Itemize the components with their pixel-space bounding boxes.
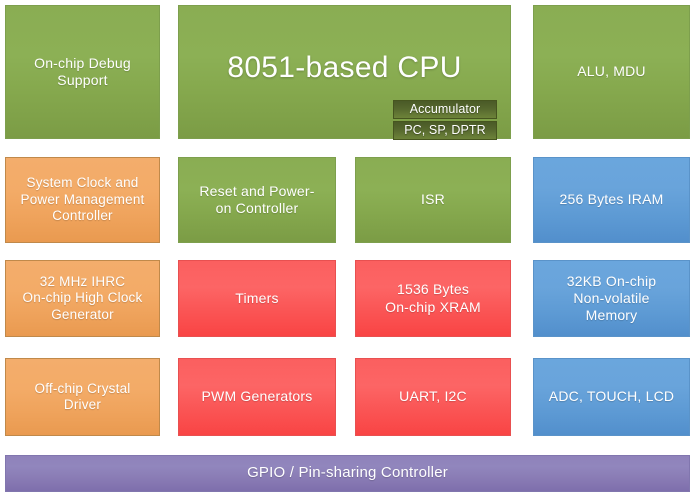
block-gpio-pin-sharing-controller[interactable]: GPIO / Pin-sharing Controller — [5, 455, 690, 492]
block-1536-bytes-on-chip-xram[interactable]: 1536 Bytes On-chip XRAM — [355, 260, 511, 337]
block-32kb-on-chip-non-volatile-memory[interactable]: 32KB On-chip Non-volatile Memory — [533, 260, 690, 337]
cpu-title: 8051-based CPU — [179, 50, 510, 87]
block-pwm-generators[interactable]: PWM Generators — [178, 358, 336, 436]
block-label: PWM Generators — [185, 388, 329, 405]
block-label: Off-chip Crystal Driver — [12, 381, 153, 414]
block-8051-based-cpu[interactable]: 8051-based CPU Accumulator PC, SP, DPTR — [178, 5, 511, 139]
block-label: ALU, MDU — [540, 63, 683, 80]
block-off-chip-crystal-driver[interactable]: Off-chip Crystal Driver — [5, 358, 160, 436]
block-label: UART, I2C — [362, 388, 504, 405]
block-timers[interactable]: Timers — [178, 260, 336, 337]
block-label: 32KB On-chip Non-volatile Memory — [540, 273, 683, 324]
block-256-bytes-iram[interactable]: 256 Bytes IRAM — [533, 157, 690, 243]
block-label: GPIO / Pin-sharing Controller — [12, 464, 683, 482]
block-label: 32 MHz IHRC On-chip High Clock Generator — [12, 274, 153, 323]
block-label: On-chip Debug Support — [12, 55, 153, 89]
block-label: ISR — [362, 191, 504, 208]
block-alu-mdu[interactable]: ALU, MDU — [533, 5, 690, 139]
block-label: Reset and Power- on Controller — [185, 183, 329, 217]
block-label: 256 Bytes IRAM — [540, 191, 683, 208]
block-accumulator[interactable]: Accumulator — [393, 100, 497, 119]
block-diagram-canvas: On-chip Debug Support 8051-based CPU Acc… — [0, 0, 693, 497]
block-program-counter-stack-pointer-dptr[interactable]: PC, SP, DPTR — [393, 121, 497, 140]
block-on-chip-debug-support[interactable]: On-chip Debug Support — [5, 5, 160, 139]
cpu-register-group: Accumulator PC, SP, DPTR — [393, 100, 497, 140]
block-label: Timers — [185, 290, 329, 307]
block-label: PC, SP, DPTR — [404, 123, 486, 138]
block-adc-touch-lcd[interactable]: ADC, TOUCH, LCD — [533, 358, 690, 436]
block-reset-and-power-on-controller[interactable]: Reset and Power- on Controller — [178, 157, 336, 243]
block-label: 1536 Bytes On-chip XRAM — [362, 281, 504, 315]
block-system-clock-power-management-controller[interactable]: System Clock and Power Management Contro… — [5, 157, 160, 243]
block-label: ADC, TOUCH, LCD — [540, 388, 683, 405]
block-isr[interactable]: ISR — [355, 157, 511, 243]
block-uart-i2c[interactable]: UART, I2C — [355, 358, 511, 436]
block-label: System Clock and Power Management Contro… — [12, 175, 153, 224]
block-label: Accumulator — [410, 102, 481, 117]
block-32mhz-ihrc-on-chip-high-clock-generator[interactable]: 32 MHz IHRC On-chip High Clock Generator — [5, 260, 160, 337]
